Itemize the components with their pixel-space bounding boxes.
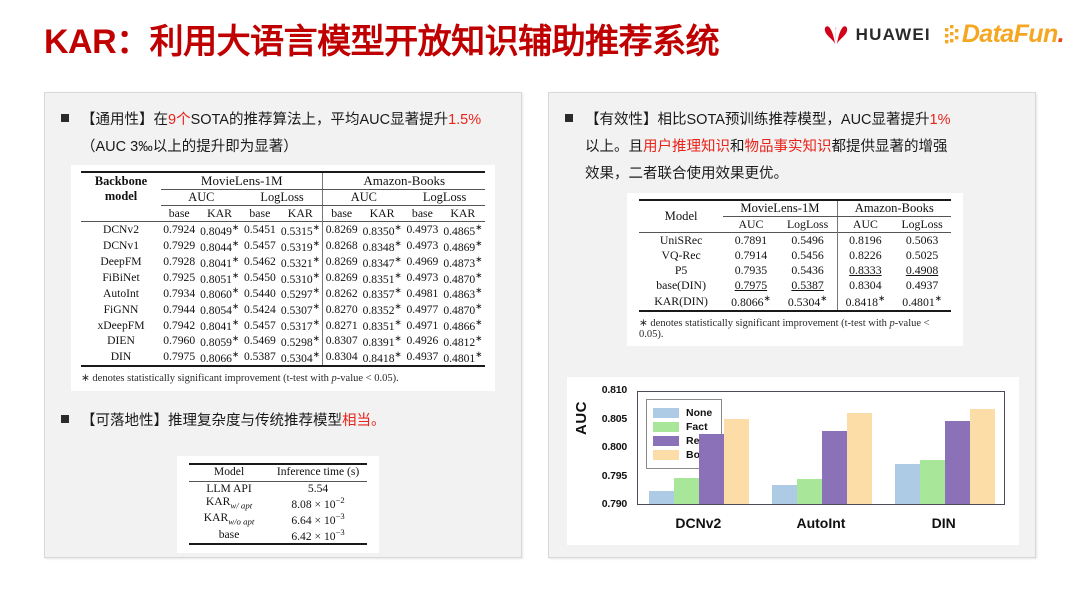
table1-cell-value: 0.5469 xyxy=(242,333,278,349)
table1-cell-value: 0.8060∗ xyxy=(197,285,241,301)
table1-cell-value: 0.4869∗ xyxy=(441,238,485,254)
page-title: KAR：利用大语言模型开放知识辅助推荐系统 xyxy=(44,14,719,63)
rb1-seg4: 都提供显著的增强 xyxy=(832,139,948,155)
table2-body: LLM API5.54KARw/ apt8.08 × 10−2KARw/o ap… xyxy=(189,482,367,544)
table3-cell-model: UniSRec xyxy=(639,233,723,249)
table1-cell-value: 0.7929 xyxy=(161,238,197,254)
table3-cell-value: 0.8226 xyxy=(837,248,893,263)
bullet-square-icon xyxy=(61,415,69,423)
table1-header-row-3: base KAR base KAR base KAR base KAR xyxy=(81,206,485,222)
left-bullet-1: 【通用性】在9个SOTA的推荐算法上，平均AUC显著提升1.5% （AUC 3‰… xyxy=(61,107,511,161)
table1-cell-value: 0.4973 xyxy=(404,270,440,286)
table1-cell-model: xDeepFM xyxy=(81,317,161,333)
huawei-flower-icon xyxy=(823,24,849,46)
table-row: DeepFM0.79280.8041∗0.54620.5321∗0.82690.… xyxy=(81,254,485,270)
table1-cell-value: 0.8054∗ xyxy=(197,301,241,317)
table-row: xDeepFM0.79420.8041∗0.54570.5317∗0.82710… xyxy=(81,317,485,333)
table2-header-row: Model Inference time (s) xyxy=(189,464,367,482)
t3-ml-auc: AUC xyxy=(723,217,778,233)
table3-cell-model: base(DIN) xyxy=(639,278,723,293)
bullet-square-icon xyxy=(565,114,573,122)
pretrained-comparison-table-wrapper: Model MovieLens-1M Amazon-Books AUC LogL… xyxy=(627,193,963,346)
table3-cell-value: 0.5063 xyxy=(893,233,951,249)
t1-ab-auc-kar: KAR xyxy=(360,206,404,222)
table1-cell-value: 0.5450 xyxy=(242,270,278,286)
table1-cell-model: DCNv2 xyxy=(81,222,161,238)
table3-cell-value: 0.5387 xyxy=(779,278,838,293)
table1-cell-value: 0.5319∗ xyxy=(278,238,323,254)
table-row: DCNv10.79290.8044∗0.54570.5319∗0.82680.8… xyxy=(81,238,485,254)
significance-star: ∗ xyxy=(878,293,885,303)
table1-cell-value: 0.5457 xyxy=(242,317,278,333)
table3-cell-model: P5 xyxy=(639,263,723,278)
table1-body: DCNv20.79240.8049∗0.54510.5315∗0.82690.8… xyxy=(81,222,485,366)
chart-bar[interactable] xyxy=(847,413,872,504)
chart-bar[interactable] xyxy=(920,460,945,504)
significance-star: ∗ xyxy=(313,223,320,232)
significance-star: ∗ xyxy=(395,350,402,359)
t3-ab-auc: AUC xyxy=(837,217,893,233)
table1-cell-value: 0.8304 xyxy=(323,349,360,366)
underlined-value: 0.5387 xyxy=(791,278,823,292)
t1-corner-line1: Backbone xyxy=(81,174,161,189)
table1-cell-value: 0.8271 xyxy=(323,317,360,333)
chart-bar[interactable] xyxy=(797,479,822,504)
table2-cell-time: 6.64 × 10−3 xyxy=(269,511,367,527)
pretrained-comparison-table: Model MovieLens-1M Amazon-Books AUC LogL… xyxy=(639,199,951,312)
table1-cell-value: 0.8347∗ xyxy=(360,254,404,270)
table3-cell-model: VQ-Rec xyxy=(639,248,723,263)
significance-star: ∗ xyxy=(313,318,320,327)
t1-dataset-amazon: Amazon-Books xyxy=(323,172,485,190)
significance-star: ∗ xyxy=(232,318,239,327)
table1-cell-value: 0.8262 xyxy=(323,285,360,301)
significance-star: ∗ xyxy=(232,239,239,248)
significance-star: ∗ xyxy=(313,255,320,264)
table1-cell-value: 0.8418∗ xyxy=(360,349,404,366)
significance-star: ∗ xyxy=(313,350,320,359)
table-row: DIEN0.79600.8059∗0.54690.5298∗0.83070.83… xyxy=(81,333,485,349)
rb1-hl2: 用户推理知识 xyxy=(643,139,730,155)
table1-cell-value: 0.5321∗ xyxy=(278,254,323,270)
bullet-square-icon xyxy=(61,114,69,122)
huawei-wordmark: HUAWEI xyxy=(856,25,931,45)
t1-ml-ll-kar: KAR xyxy=(278,206,323,222)
table-row: DIN0.79750.8066∗0.53870.5304∗0.83040.841… xyxy=(81,349,485,366)
t1-dataset-movielens: MovieLens-1M xyxy=(161,172,323,190)
table1-cell-value: 0.5440 xyxy=(242,285,278,301)
significance-star: ∗ xyxy=(935,293,942,303)
table1-cell-value: 0.4801∗ xyxy=(441,349,485,366)
t1-ab-auc: AUC xyxy=(323,190,404,206)
table1-cell-model: FiBiNet xyxy=(81,270,161,286)
chart-bar-group xyxy=(638,392,761,504)
table3-cell-value: 0.8196 xyxy=(837,233,893,249)
chart-bar[interactable] xyxy=(970,409,995,504)
table3-body: UniSRec0.78910.54960.81960.5063VQ-Rec0.7… xyxy=(639,233,951,311)
significance-star: ∗ xyxy=(475,286,482,295)
table-row: base6.42 × 10−3 xyxy=(189,527,367,544)
chart-bar[interactable] xyxy=(772,485,797,504)
table-row: P50.79350.54360.83330.4908 xyxy=(639,263,951,278)
table1-cell-value: 0.5297∗ xyxy=(278,285,323,301)
t1-ab-ll-kar: KAR xyxy=(441,206,485,222)
table-row: DCNv20.79240.8049∗0.54510.5315∗0.82690.8… xyxy=(81,222,485,238)
table1-cell-value: 0.5315∗ xyxy=(278,222,323,238)
table1-cell-value: 0.5387 xyxy=(242,349,278,366)
t1-ab-ll-base: base xyxy=(404,206,440,222)
chart-bar-group xyxy=(883,392,1006,504)
table1-cell-value: 0.8270 xyxy=(323,301,360,317)
table3-cell-value: 0.5496 xyxy=(779,233,838,249)
table3-cell-value: 0.8304 xyxy=(837,278,893,293)
significance-star: ∗ xyxy=(475,255,482,264)
t3-h-model: Model xyxy=(639,200,723,233)
table1-cell-value: 0.4977 xyxy=(404,301,440,317)
logo-group: HUAWEI DataFun. xyxy=(823,20,1064,49)
model-subscript: w/o apt xyxy=(228,516,254,526)
left-bullet-2: 【可落地性】推理复杂度与传统推荐模型相当。 xyxy=(61,408,511,435)
table1-cell-value: 0.4973 xyxy=(404,238,440,254)
chart-x-tick: DCNv2 xyxy=(637,515,760,531)
rb1-line3: 效果，二者联合使用效果更优。 xyxy=(585,166,788,182)
table1-cell-value: 0.4937 xyxy=(404,349,440,366)
t2-h-time: Inference time (s) xyxy=(269,464,367,482)
table1-cell-value: 0.8352∗ xyxy=(360,301,404,317)
lb1-seg1: 【通用性】在 xyxy=(81,112,168,128)
table1-cell-value: 0.5451 xyxy=(242,222,278,238)
significance-star: ∗ xyxy=(313,286,320,295)
significance-star: ∗ xyxy=(475,334,482,343)
lb2-hl1: 相当 xyxy=(342,413,371,429)
chart-y-tick: 0.810 xyxy=(581,384,627,396)
table-row: FiBiNet0.79250.8051∗0.54500.5310∗0.82690… xyxy=(81,270,485,286)
significance-star: ∗ xyxy=(764,293,771,303)
right-bullet-1: 【有效性】相比SOTA预训练推荐模型，AUC显著提升1% 以上。且用户推理知识和… xyxy=(565,107,1027,188)
table3-cell-value: 0.7891 xyxy=(723,233,778,249)
table1-cell-value: 0.8051∗ xyxy=(197,270,241,286)
slide-header: KAR：利用大语言模型开放知识辅助推荐系统 HUAWEI xyxy=(0,0,1080,76)
table1-cell-value: 0.5304∗ xyxy=(278,349,323,366)
table-row: UniSRec0.78910.54960.81960.5063 xyxy=(639,233,951,249)
table1-cell-value: 0.4971 xyxy=(404,317,440,333)
table3-cell-value: 0.5456 xyxy=(779,248,838,263)
significance-star: ∗ xyxy=(475,318,482,327)
table2-cell-model: LLM API xyxy=(189,482,269,496)
table1-cell-value: 0.8269 xyxy=(323,254,360,270)
table1-cell-value: 0.5310∗ xyxy=(278,270,323,286)
table1-cell-value: 0.8049∗ xyxy=(197,222,241,238)
exponent: −2 xyxy=(336,495,345,505)
t1-corner-line2: model xyxy=(81,189,161,204)
chart-bar-group xyxy=(761,392,884,504)
significance-star: ∗ xyxy=(313,271,320,280)
table3-cell-value: 0.7975 xyxy=(723,278,778,293)
table2-cell-time: 5.54 xyxy=(269,482,367,496)
significance-star: ∗ xyxy=(475,223,482,232)
table1-cell-value: 0.8351∗ xyxy=(360,317,404,333)
t3-fn-pre: ∗ denotes statistically significant impr… xyxy=(639,318,890,329)
significance-star: ∗ xyxy=(820,293,827,303)
table1-cell-value: 0.7975 xyxy=(161,349,197,366)
table3-cell-value: 0.7914 xyxy=(723,248,778,263)
datafun-dot: . xyxy=(1058,20,1064,48)
table1-cell-value: 0.5457 xyxy=(242,238,278,254)
table3-header-row-1: Model MovieLens-1M Amazon-Books xyxy=(639,200,951,217)
significance-star: ∗ xyxy=(395,223,402,232)
chart-bar[interactable] xyxy=(822,431,847,504)
table-row: FiGNN0.79440.8054∗0.54240.5307∗0.82700.8… xyxy=(81,301,485,317)
table1-cell-value: 0.8059∗ xyxy=(197,333,241,349)
table1-cell-value: 0.5462 xyxy=(242,254,278,270)
table1-footnote: ∗ denotes statistically significant impr… xyxy=(81,372,485,384)
table1-cell-model: DeepFM xyxy=(81,254,161,270)
table1-cell-value: 0.4926 xyxy=(404,333,440,349)
table1-cell-value: 0.7934 xyxy=(161,285,197,301)
table-row: KARw/ apt8.08 × 10−2 xyxy=(189,495,367,511)
significance-star: ∗ xyxy=(395,255,402,264)
table1-cell-value: 0.8350∗ xyxy=(360,222,404,238)
table1-cell-value: 0.4981 xyxy=(404,285,440,301)
backbone-results-table-wrapper: Backbone model MovieLens-1M Amazon-Books… xyxy=(71,165,495,391)
underlined-value: 0.8333 xyxy=(849,263,881,277)
table2-cell-time: 8.08 × 10−2 xyxy=(269,495,367,511)
datafun-wordmark: DataFun. xyxy=(962,20,1064,49)
table1-cell-model: DIN xyxy=(81,349,161,366)
significance-star: ∗ xyxy=(395,286,402,295)
rb1-hl1: 1% xyxy=(930,112,951,128)
datafun-word: DataFun xyxy=(962,20,1058,48)
table1-cell-model: AutoInt xyxy=(81,285,161,301)
table1-cell-value: 0.4870∗ xyxy=(441,270,485,286)
table3-cell-value: 0.4908 xyxy=(893,263,951,278)
lb1-seg2: SOTA的推荐算法上，平均AUC显著提升 xyxy=(191,112,449,128)
table3-cell-value: 0.4801∗ xyxy=(893,293,951,311)
datafun-logo: DataFun. xyxy=(945,20,1064,49)
significance-star: ∗ xyxy=(232,350,239,359)
t1-ml-logloss: LogLoss xyxy=(242,190,323,206)
t1-ml-ll-base: base xyxy=(242,206,278,222)
table3-footnote: ∗ denotes statistically significant impr… xyxy=(639,317,951,340)
t3-dataset-movielens: MovieLens-1M xyxy=(723,200,837,217)
table-row: AutoInt0.79340.8060∗0.54400.5297∗0.82620… xyxy=(81,285,485,301)
slide: KAR：利用大语言模型开放知识辅助推荐系统 HUAWEI xyxy=(0,0,1080,608)
chart-x-tick: AutoInt xyxy=(760,515,883,531)
table1-cell-value: 0.8351∗ xyxy=(360,270,404,286)
table1-cell-value: 0.8348∗ xyxy=(360,238,404,254)
table1-cell-model: FiGNN xyxy=(81,301,161,317)
chart-plot-area: NoneFactReasBoth xyxy=(637,391,1005,505)
table1-cell-value: 0.5317∗ xyxy=(278,317,323,333)
significance-star: ∗ xyxy=(395,271,402,280)
table3-cell-value: 0.5436 xyxy=(779,263,838,278)
table1-cell-value: 0.5424 xyxy=(242,301,278,317)
inference-time-table-wrapper: Model Inference time (s) LLM API5.54KARw… xyxy=(177,456,379,553)
table1-cell-value: 0.7942 xyxy=(161,317,197,333)
auc-ablation-bar-chart: AUC 0.7900.7950.8000.8050.810 NoneFactRe… xyxy=(567,377,1019,545)
table1-cell-value: 0.5298∗ xyxy=(278,333,323,349)
rb1-seg1: 【有效性】相比SOTA预训练推荐模型，AUC显著提升 xyxy=(585,112,930,128)
inference-time-table: Model Inference time (s) LLM API5.54KARw… xyxy=(189,463,367,545)
table3-cell-model: KAR(DIN) xyxy=(639,293,723,311)
table1-cell-model: DIEN xyxy=(81,333,161,349)
rb1-hl3: 物品事实知识 xyxy=(745,139,832,155)
t1-ml-auc: AUC xyxy=(161,190,242,206)
rb1-seg2: 以上。且 xyxy=(585,139,643,155)
table1-cell-value: 0.4863∗ xyxy=(441,285,485,301)
lb1-line2: （AUC 3‰以上的提升即为显著） xyxy=(81,139,298,155)
table1-cell-value: 0.8041∗ xyxy=(197,317,241,333)
backbone-results-table: Backbone model MovieLens-1M Amazon-Books… xyxy=(81,171,485,367)
lb2-seg2: 。 xyxy=(371,413,386,429)
chart-y-tick: 0.790 xyxy=(581,498,627,510)
chart-bar[interactable] xyxy=(724,419,749,504)
table1-cell-value: 0.8307 xyxy=(323,333,360,349)
table-row: LLM API5.54 xyxy=(189,482,367,496)
table1-cell-value: 0.7928 xyxy=(161,254,197,270)
significance-star: ∗ xyxy=(395,239,402,248)
t1-fn-pre: ∗ denotes statistically significant impr… xyxy=(81,373,332,384)
table1-cell-value: 0.4866∗ xyxy=(441,317,485,333)
t1-ab-auc-base: base xyxy=(323,206,360,222)
rb1-seg3: 和 xyxy=(730,139,745,155)
exponent: −3 xyxy=(336,527,345,537)
table1-cell-value: 0.8269 xyxy=(323,270,360,286)
lb1-hl2: 1.5% xyxy=(448,112,481,128)
underlined-value: 0.4908 xyxy=(906,263,938,277)
table1-cell-value: 0.8269 xyxy=(323,222,360,238)
table1-cell-value: 0.7960 xyxy=(161,333,197,349)
table1-cell-value: 0.8268 xyxy=(323,238,360,254)
table3-cell-value: 0.5304∗ xyxy=(779,293,838,311)
t3-ab-logloss: LogLoss xyxy=(893,217,951,233)
huawei-logo: HUAWEI xyxy=(823,24,931,46)
table-row: KAR(DIN)0.8066∗0.5304∗0.8418∗0.4801∗ xyxy=(639,293,951,311)
table1-cell-value: 0.8044∗ xyxy=(197,238,241,254)
chart-inner: AUC 0.7900.7950.8000.8050.810 NoneFactRe… xyxy=(567,377,1019,545)
table1-cell-model: DCNv1 xyxy=(81,238,161,254)
table1-cell-value: 0.8391∗ xyxy=(360,333,404,349)
table3-cell-value: 0.7935 xyxy=(723,263,778,278)
table3-cell-value: 0.4937 xyxy=(893,278,951,293)
chart-bar[interactable] xyxy=(895,464,920,504)
table3-cell-value: 0.8066∗ xyxy=(723,293,778,311)
significance-star: ∗ xyxy=(395,302,402,311)
significance-star: ∗ xyxy=(313,334,320,343)
t1-ml-auc-kar: KAR xyxy=(197,206,241,222)
significance-star: ∗ xyxy=(232,255,239,264)
left-bullet-2-text: 【可落地性】推理复杂度与传统推荐模型相当。 xyxy=(81,408,386,435)
table1-cell-value: 0.4812∗ xyxy=(441,333,485,349)
table1-cell-value: 0.8041∗ xyxy=(197,254,241,270)
table-row: KARw/o apt6.64 × 10−3 xyxy=(189,511,367,527)
chart-y-tick: 0.800 xyxy=(581,441,627,453)
significance-star: ∗ xyxy=(232,271,239,280)
t3-dataset-amazon: Amazon-Books xyxy=(837,200,951,217)
right-content-panel: 【有效性】相比SOTA预训练推荐模型，AUC显著提升1% 以上。且用户推理知识和… xyxy=(548,92,1036,558)
datafun-dots-icon xyxy=(945,24,961,46)
significance-star: ∗ xyxy=(313,302,320,311)
table1-cell-value: 0.7925 xyxy=(161,270,197,286)
t1-ab-logloss: LogLoss xyxy=(404,190,485,206)
table3-cell-value: 0.8418∗ xyxy=(837,293,893,311)
model-subscript: w/ apt xyxy=(230,501,252,511)
chart-bar[interactable] xyxy=(699,434,724,504)
significance-star: ∗ xyxy=(232,223,239,232)
table-row: base(DIN)0.79750.53870.83040.4937 xyxy=(639,278,951,293)
table-row: VQ-Rec0.79140.54560.82260.5025 xyxy=(639,248,951,263)
significance-star: ∗ xyxy=(475,350,482,359)
lb1-hl1: 9个 xyxy=(168,112,191,128)
significance-star: ∗ xyxy=(395,334,402,343)
table3-cell-value: 0.5025 xyxy=(893,248,951,263)
chart-x-tick: DIN xyxy=(882,515,1005,531)
table1-cell-value: 0.7944 xyxy=(161,301,197,317)
table3-cell-value: 0.8333 xyxy=(837,263,893,278)
table1-cell-value: 0.4969 xyxy=(404,254,440,270)
chart-bar[interactable] xyxy=(674,478,699,504)
table2-cell-model: KARw/o apt xyxy=(189,511,269,527)
right-bullet-1-text: 【有效性】相比SOTA预训练推荐模型，AUC显著提升1% 以上。且用户推理知识和… xyxy=(585,107,950,188)
significance-star: ∗ xyxy=(475,302,482,311)
chart-bar[interactable] xyxy=(649,491,674,504)
t1-fn-post: -value < 0.05). xyxy=(337,373,399,384)
significance-star: ∗ xyxy=(395,318,402,327)
exponent: −3 xyxy=(336,511,345,521)
t1-ml-auc-base: base xyxy=(161,206,197,222)
table1-cell-value: 0.7924 xyxy=(161,222,197,238)
chart-y-tick: 0.795 xyxy=(581,470,627,482)
lb2-seg1: 【可落地性】推理复杂度与传统推荐模型 xyxy=(81,413,342,429)
chart-y-tick: 0.805 xyxy=(581,413,627,425)
underlined-value: 0.7975 xyxy=(735,278,767,292)
table1-cell-value: 0.4973 xyxy=(404,222,440,238)
table2-cell-time: 6.42 × 10−3 xyxy=(269,527,367,544)
table2-cell-model: KARw/ apt xyxy=(189,495,269,511)
significance-star: ∗ xyxy=(475,239,482,248)
significance-star: ∗ xyxy=(475,271,482,280)
table1-cell-value: 0.4870∗ xyxy=(441,301,485,317)
significance-star: ∗ xyxy=(313,239,320,248)
left-bullet-1-text: 【通用性】在9个SOTA的推荐算法上，平均AUC显著提升1.5% （AUC 3‰… xyxy=(81,107,481,161)
table1-header-row-1: Backbone model MovieLens-1M Amazon-Books xyxy=(81,172,485,190)
table1-cell-value: 0.8066∗ xyxy=(197,349,241,366)
significance-star: ∗ xyxy=(232,302,239,311)
table1-cell-value: 0.4865∗ xyxy=(441,222,485,238)
significance-star: ∗ xyxy=(232,334,239,343)
t2-h-model: Model xyxy=(189,464,269,482)
significance-star: ∗ xyxy=(232,286,239,295)
chart-bar[interactable] xyxy=(945,421,970,504)
t3-ml-logloss: LogLoss xyxy=(779,217,838,233)
table1-cell-value: 0.4873∗ xyxy=(441,254,485,270)
left-content-panel: 【通用性】在9个SOTA的推荐算法上，平均AUC显著提升1.5% （AUC 3‰… xyxy=(44,92,522,558)
table2-cell-model: base xyxy=(189,527,269,544)
table1-cell-value: 0.5307∗ xyxy=(278,301,323,317)
table1-cell-value: 0.8357∗ xyxy=(360,285,404,301)
